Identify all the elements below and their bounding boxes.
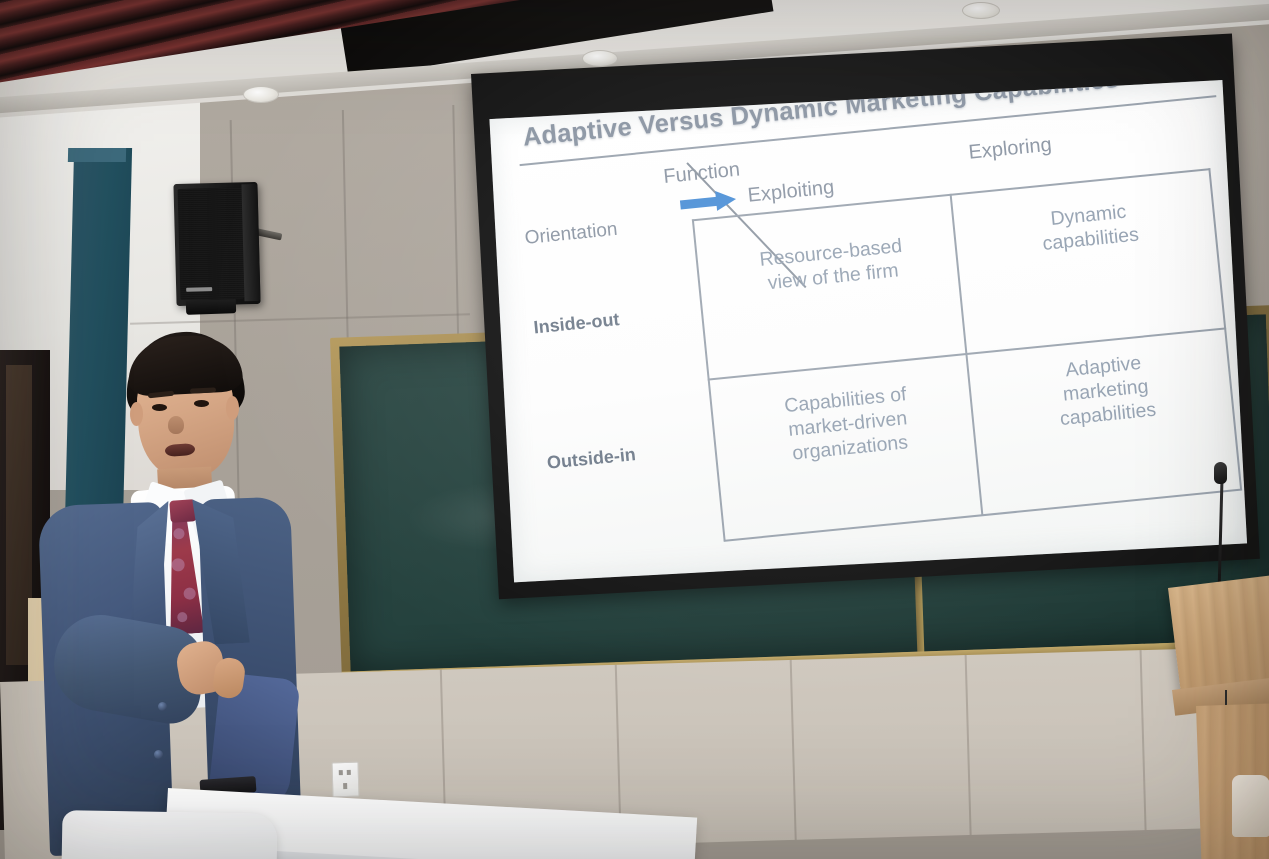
axis-label-function: Function [662,158,741,188]
eye [152,404,167,411]
row-header-outside-in: Outside-in [546,444,637,474]
lecture-hall-photo: Adaptive Versus Dynamic Marketing Capabi… [0,0,1269,859]
presenter [18,320,288,859]
teal-column-top [68,148,126,162]
column-header-exploiting: Exploiting [747,176,836,207]
speaker-grille [178,187,245,300]
projection-screen: Adaptive Versus Dynamic Marketing Capabi… [471,33,1260,599]
nose [168,416,184,434]
recessed-light-icon [243,86,279,103]
row-header-inside-out: Inside-out [533,309,621,338]
presentation-slide: Adaptive Versus Dynamic Marketing Capabi… [489,80,1247,582]
necktie-knot [169,499,196,523]
recessed-light-icon [962,2,1000,19]
speaker-side [241,184,260,301]
podium-object [1232,775,1269,837]
screen-surface: Adaptive Versus Dynamic Marketing Capabi… [489,80,1247,582]
speaker-mount [186,299,236,315]
column-header-exploring: Exploring [968,134,1053,165]
ear [130,402,143,426]
axis-label-orientation: Orientation [524,219,619,250]
suit-button [154,750,163,759]
hair-front [127,333,244,397]
ear [226,396,239,420]
speaker-badge [186,287,212,292]
eye [194,400,209,407]
microphone-icon [1214,462,1227,484]
white-chair [61,810,277,859]
recessed-light-icon [582,50,618,67]
suit-button [158,702,167,711]
wall-power-socket[interactable] [332,762,360,798]
wall-speaker [173,182,260,306]
